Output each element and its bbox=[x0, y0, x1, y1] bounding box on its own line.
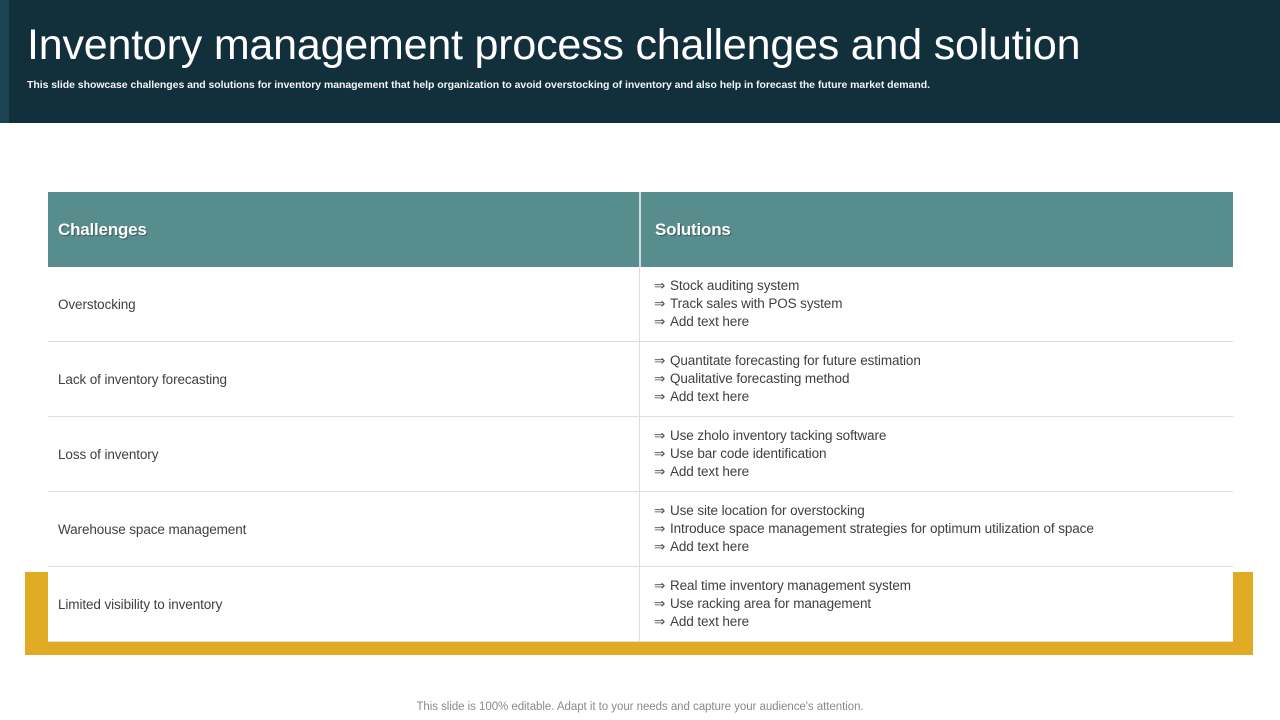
list-item: ⇒ Use site location for overstocking bbox=[654, 502, 1094, 520]
table-header-cell-solutions: Solutions bbox=[639, 192, 1233, 267]
solution-text: Add text here bbox=[670, 613, 749, 631]
list-item: ⇒ Track sales with POS system bbox=[654, 295, 842, 313]
double-arrow-icon: ⇒ bbox=[654, 520, 670, 538]
list-item: ⇒ Add text here bbox=[654, 313, 842, 331]
solution-cell: ⇒ Use zholo inventory tacking software ⇒… bbox=[639, 417, 1233, 491]
list-item: ⇒ Quantitate forecasting for future esti… bbox=[654, 352, 921, 370]
list-item: ⇒ Qualitative forecasting method bbox=[654, 370, 921, 388]
solution-text: Add text here bbox=[670, 463, 749, 481]
solution-list: ⇒ Quantitate forecasting for future esti… bbox=[654, 352, 921, 405]
challenges-solutions-table: Challenges Solutions Overstocking ⇒ Stoc… bbox=[48, 192, 1233, 642]
double-arrow-icon: ⇒ bbox=[654, 313, 670, 331]
challenge-label: Lack of inventory forecasting bbox=[58, 372, 227, 387]
double-arrow-icon: ⇒ bbox=[654, 538, 670, 556]
table-row[interactable]: Loss of inventory ⇒ Use zholo inventory … bbox=[48, 417, 1233, 492]
double-arrow-icon: ⇒ bbox=[654, 277, 670, 295]
double-arrow-icon: ⇒ bbox=[654, 502, 670, 520]
solution-cell: ⇒ Real time inventory management system … bbox=[639, 567, 1233, 641]
solution-list: ⇒ Stock auditing system ⇒ Track sales wi… bbox=[654, 277, 842, 330]
column-header-label: Solutions bbox=[655, 220, 731, 240]
challenge-label: Warehouse space management bbox=[58, 522, 246, 537]
solution-cell: ⇒ Stock auditing system ⇒ Track sales wi… bbox=[639, 267, 1233, 341]
list-item: ⇒ Use bar code identification bbox=[654, 445, 886, 463]
list-item: ⇒ Add text here bbox=[654, 613, 911, 631]
challenge-label: Limited visibility to inventory bbox=[58, 597, 222, 612]
footer-note: This slide is 100% editable. Adapt it to… bbox=[0, 701, 1280, 713]
solution-text: Use bar code identification bbox=[670, 445, 826, 463]
double-arrow-icon: ⇒ bbox=[654, 388, 670, 406]
list-item: ⇒ Add text here bbox=[654, 463, 886, 481]
solution-cell: ⇒ Use site location for overstocking ⇒ I… bbox=[639, 492, 1233, 566]
solution-text: Add text here bbox=[670, 538, 749, 556]
column-header-label: Challenges bbox=[58, 220, 147, 240]
solution-text: Qualitative forecasting method bbox=[670, 370, 849, 388]
solution-text: Real time inventory management system bbox=[670, 577, 911, 595]
solution-cell: ⇒ Quantitate forecasting for future esti… bbox=[639, 342, 1233, 416]
slide-header-band: Inventory management process challenges … bbox=[0, 0, 1280, 123]
challenge-cell: Lack of inventory forecasting bbox=[48, 342, 639, 416]
table-row[interactable]: Warehouse space management ⇒ Use site lo… bbox=[48, 492, 1233, 567]
double-arrow-icon: ⇒ bbox=[654, 613, 670, 631]
double-arrow-icon: ⇒ bbox=[654, 595, 670, 613]
list-item: ⇒ Use racking area for management bbox=[654, 595, 911, 613]
list-item: ⇒ Add text here bbox=[654, 388, 921, 406]
challenge-cell: Overstocking bbox=[48, 267, 639, 341]
table-row[interactable]: Lack of inventory forecasting ⇒ Quantita… bbox=[48, 342, 1233, 417]
solution-text: Use zholo inventory tacking software bbox=[670, 427, 886, 445]
solution-text: Introduce space management strategies fo… bbox=[670, 520, 1094, 538]
list-item: ⇒ Real time inventory management system bbox=[654, 577, 911, 595]
double-arrow-icon: ⇒ bbox=[654, 445, 670, 463]
challenge-cell: Limited visibility to inventory bbox=[48, 567, 639, 641]
page-title: Inventory management process challenges … bbox=[27, 17, 1080, 73]
challenge-label: Loss of inventory bbox=[58, 447, 158, 462]
list-item: ⇒ Stock auditing system bbox=[654, 277, 842, 295]
solution-text: Add text here bbox=[670, 313, 749, 331]
challenge-cell: Warehouse space management bbox=[48, 492, 639, 566]
double-arrow-icon: ⇒ bbox=[654, 577, 670, 595]
header-accent-strip bbox=[0, 0, 9, 123]
solution-text: Use site location for overstocking bbox=[670, 502, 865, 520]
list-item: ⇒ Use zholo inventory tacking software bbox=[654, 427, 886, 445]
list-item: ⇒ Introduce space management strategies … bbox=[654, 520, 1094, 538]
page-subtitle: This slide showcase challenges and solut… bbox=[27, 78, 930, 92]
challenge-label: Overstocking bbox=[58, 297, 136, 312]
double-arrow-icon: ⇒ bbox=[654, 295, 670, 313]
table-row[interactable]: Overstocking ⇒ Stock auditing system ⇒ T… bbox=[48, 267, 1233, 342]
solution-text: Stock auditing system bbox=[670, 277, 799, 295]
table-header-cell-challenges: Challenges bbox=[48, 192, 639, 267]
list-item: ⇒ Add text here bbox=[654, 538, 1094, 556]
table-row-highlighted[interactable]: Limited visibility to inventory ⇒ Real t… bbox=[48, 567, 1233, 642]
solution-text: Add text here bbox=[670, 388, 749, 406]
solution-list: ⇒ Real time inventory management system … bbox=[654, 577, 911, 630]
double-arrow-icon: ⇒ bbox=[654, 352, 670, 370]
solution-list: ⇒ Use zholo inventory tacking software ⇒… bbox=[654, 427, 886, 480]
solution-list: ⇒ Use site location for overstocking ⇒ I… bbox=[654, 502, 1094, 555]
table-header-row: Challenges Solutions bbox=[48, 192, 1233, 267]
double-arrow-icon: ⇒ bbox=[654, 370, 670, 388]
solution-text: Track sales with POS system bbox=[670, 295, 842, 313]
solution-text: Use racking area for management bbox=[670, 595, 871, 613]
double-arrow-icon: ⇒ bbox=[654, 463, 670, 481]
challenge-cell: Loss of inventory bbox=[48, 417, 639, 491]
double-arrow-icon: ⇒ bbox=[654, 427, 670, 445]
solution-text: Quantitate forecasting for future estima… bbox=[670, 352, 921, 370]
